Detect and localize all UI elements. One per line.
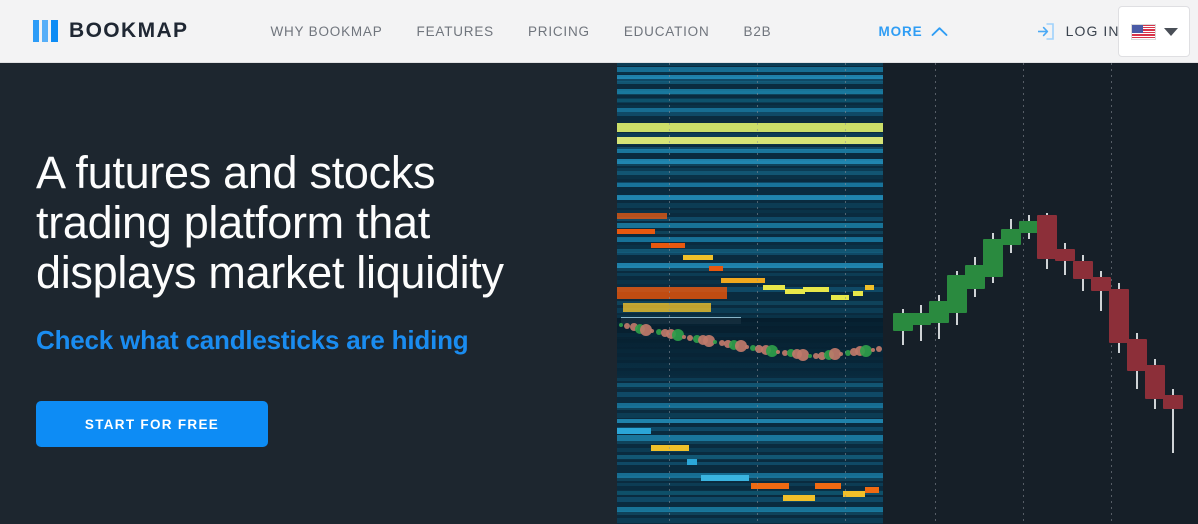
candle-10: [1073, 255, 1093, 291]
hero-subheadline: Check what candlesticks are hiding: [36, 325, 596, 356]
login-label: LOG IN: [1066, 23, 1120, 39]
candle-9: [1055, 243, 1075, 275]
caret-down-icon: [1164, 28, 1178, 36]
us-flag-icon: [1131, 24, 1156, 40]
main-nav: WHY BOOKMAP FEATURES PRICING EDUCATION B…: [270, 24, 788, 39]
candle-8: [1037, 213, 1057, 269]
more-menu-label: MORE: [878, 24, 922, 39]
start-for-free-button[interactable]: START FOR FREE: [36, 401, 268, 447]
brand-name: BOOKMAP: [69, 19, 188, 43]
candle-5: [983, 233, 1003, 283]
candle-14: [1145, 359, 1165, 409]
hero-section: A futures and stocks trading platform th…: [0, 63, 1198, 524]
nav-item-pricing[interactable]: PRICING: [511, 24, 607, 39]
headline-line-3: displays market liquidity: [36, 247, 504, 298]
liquidity-heatmap: [617, 63, 883, 524]
nav-item-why-bookmap[interactable]: WHY BOOKMAP: [270, 24, 399, 39]
nav-item-b2b[interactable]: B2B: [727, 24, 789, 39]
nav-item-features[interactable]: FEATURES: [400, 24, 511, 39]
chevron-up-icon: [931, 26, 948, 37]
candle-11: [1091, 271, 1111, 311]
login-arrow-icon: [1036, 22, 1055, 41]
hero-chart-graphic: [617, 63, 1198, 524]
candle-4: [965, 257, 985, 297]
three-bars-logo-icon: [33, 20, 58, 42]
candle-15: [1163, 389, 1183, 453]
candle-7: [1019, 215, 1039, 239]
candle-0: [893, 309, 913, 345]
brand-logo[interactable]: BOOKMAP: [33, 19, 188, 43]
candlestick-chart: [883, 63, 1198, 524]
page-title: A futures and stocks trading platform th…: [36, 148, 596, 298]
headline-line-1: A futures and stocks: [36, 147, 435, 198]
site-header: BOOKMAP WHY BOOKMAP FEATURES PRICING EDU…: [0, 0, 1198, 63]
more-menu-toggle[interactable]: MORE: [878, 24, 947, 39]
candle-13: [1127, 333, 1147, 389]
nav-item-education[interactable]: EDUCATION: [607, 24, 727, 39]
headline-line-2: trading platform that: [36, 197, 430, 248]
candle-3: [947, 271, 967, 325]
candle-1: [911, 305, 931, 341]
candle-12: [1109, 283, 1129, 353]
login-button[interactable]: LOG IN: [1036, 22, 1120, 41]
candle-2: [929, 295, 949, 339]
hero-copy: A futures and stocks trading platform th…: [36, 148, 596, 447]
language-selector[interactable]: [1118, 6, 1190, 57]
candle-6: [1001, 219, 1021, 253]
